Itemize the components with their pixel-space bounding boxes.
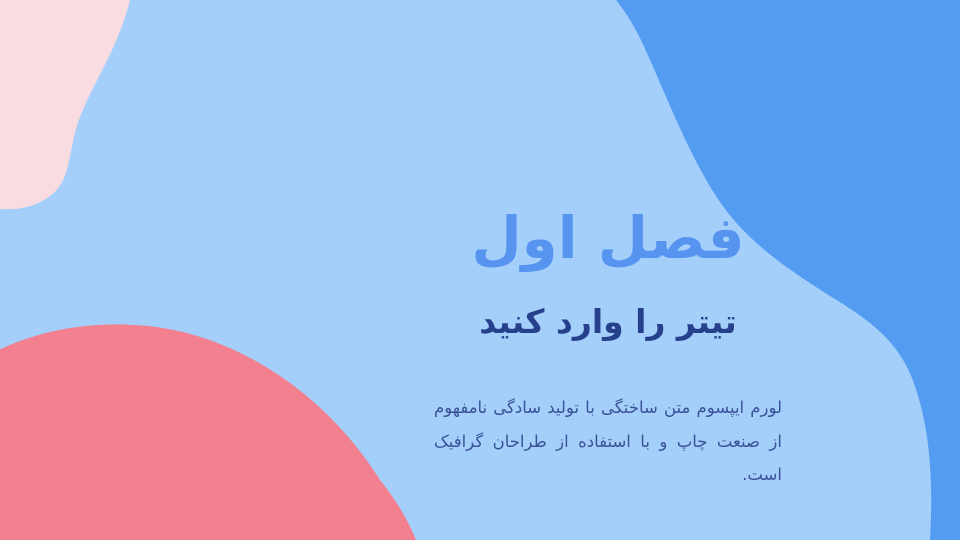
page-title: تیتر را وارد کنید [434, 302, 782, 342]
body-paragraph: لورم ایپسوم متن ساختگی با تولید سادگی نا… [434, 391, 782, 492]
chapter-label: فصل اول [434, 206, 782, 271]
slide-canvas: فصل اول تیتر را وارد کنید لورم ایپسوم مت… [0, 0, 960, 540]
slide-content: فصل اول تیتر را وارد کنید لورم ایپسوم مت… [0, 0, 960, 540]
